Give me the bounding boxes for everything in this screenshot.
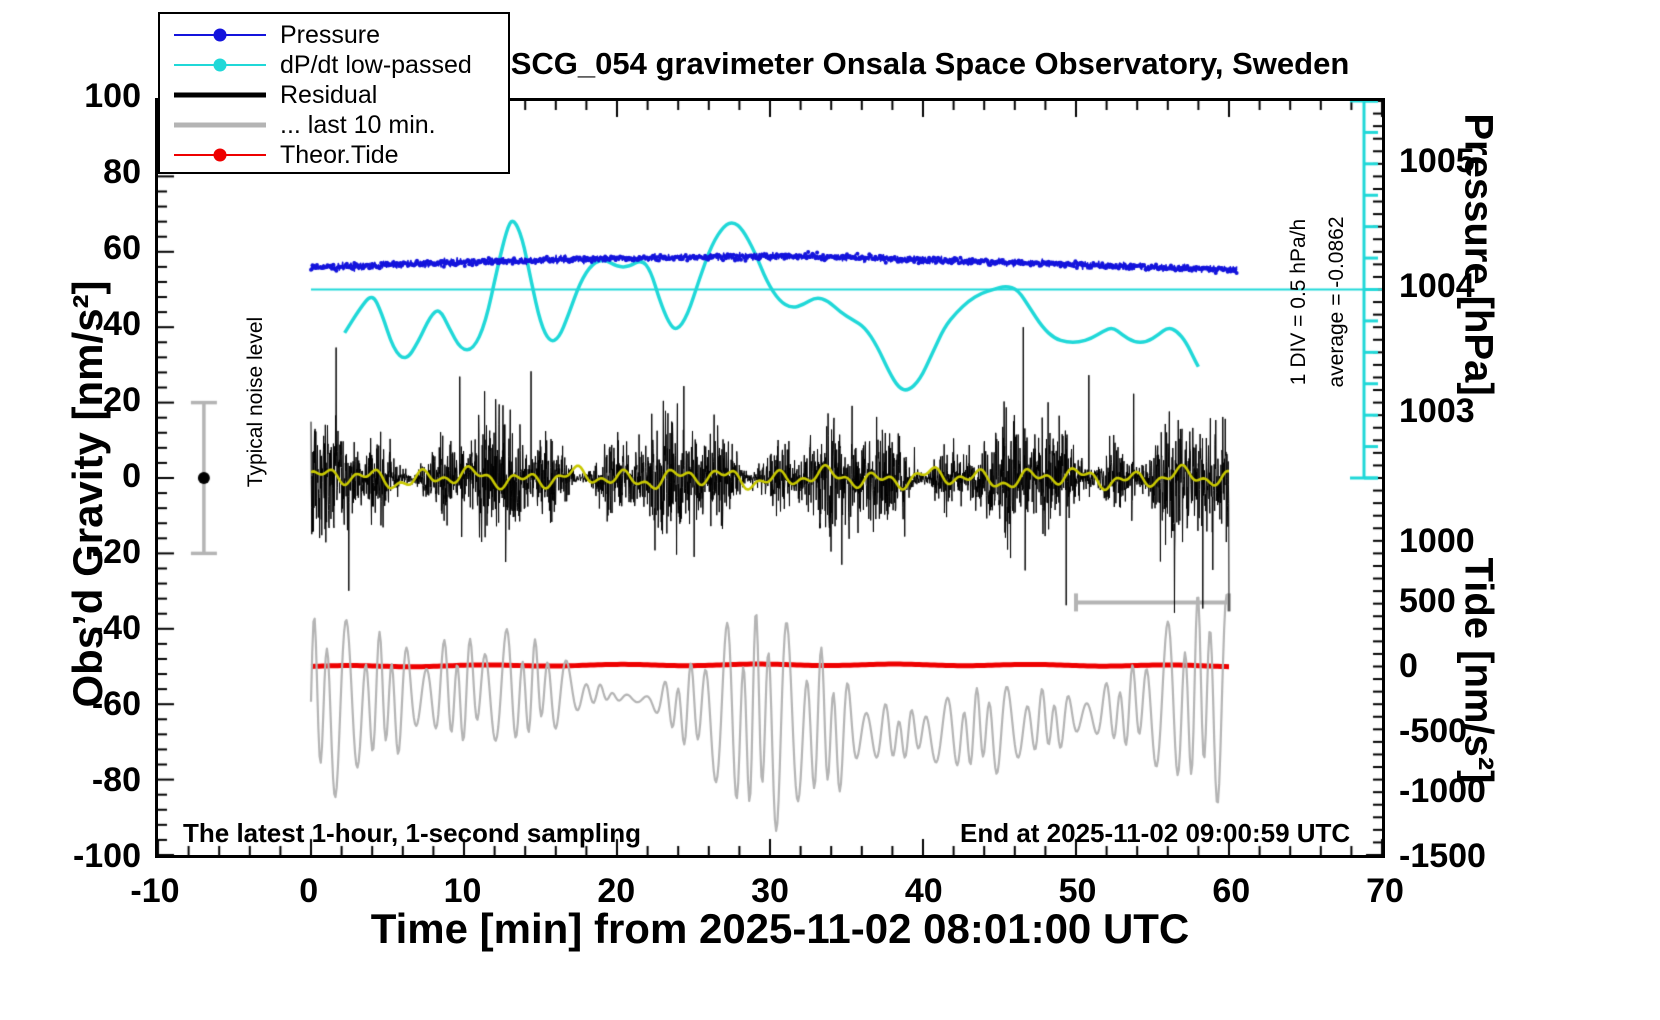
legend-item-dpdt[interactable]: dP/dt low-passed xyxy=(160,50,508,80)
y-tick-pressure-1004: 1004 xyxy=(1399,267,1549,306)
y-tick-pressure-1005: 1005 xyxy=(1399,142,1549,181)
x-tick-0: 0 xyxy=(249,872,369,911)
legend-swatch-dpdt xyxy=(174,55,266,75)
y-tick-left--20: -20 xyxy=(21,533,141,572)
plot-area xyxy=(155,98,1385,858)
x-tick-20: 20 xyxy=(556,872,676,911)
x-tick-40: 40 xyxy=(864,872,984,911)
page-title: SCG_054 gravimeter Onsala Space Observat… xyxy=(430,46,1430,82)
x-tick-50: 50 xyxy=(1018,872,1138,911)
div-scale-label: 1 DIV = 0.5 hPa/h xyxy=(1287,187,1311,417)
y-tick-tide-500: 500 xyxy=(1399,582,1549,621)
caption-latest: The latest 1-hour, 1-second sampling xyxy=(183,818,641,849)
chart-page: SCG_054 gravimeter Onsala Space Observat… xyxy=(0,0,1660,1020)
y-tick-tide--1000: -1000 xyxy=(1399,772,1549,811)
legend-label-last10: ... last 10 min. xyxy=(280,113,436,138)
legend-label-dpdt: dP/dt low-passed xyxy=(280,53,472,78)
y-tick-left-40: 40 xyxy=(21,305,141,344)
y-tick-left-20: 20 xyxy=(21,381,141,420)
y-tick-left--80: -80 xyxy=(21,761,141,800)
average-label: average = -0.0862 xyxy=(1325,187,1349,417)
plot-canvas xyxy=(158,101,1382,855)
x-tick--10: -10 xyxy=(95,872,215,911)
legend-label-pressure: Pressure xyxy=(280,23,380,48)
y-tick-left-100: 100 xyxy=(21,77,141,116)
y-tick-left--40: -40 xyxy=(21,609,141,648)
caption-end-time: End at 2025-11-02 09:00:59 UTC xyxy=(960,818,1350,849)
y-tick-pressure-1003: 1003 xyxy=(1399,392,1549,431)
legend-item-theor-tide[interactable]: Theor.Tide xyxy=(160,140,508,170)
y-tick-left-60: 60 xyxy=(21,229,141,268)
legend-item-residual[interactable]: Residual xyxy=(160,80,508,110)
legend-label-theor-tide: Theor.Tide xyxy=(280,143,399,168)
y-tick-tide-0: 0 xyxy=(1399,647,1549,686)
legend-swatch-residual xyxy=(174,85,266,105)
y-tick-left--60: -60 xyxy=(21,685,141,724)
x-axis-title: Time [min] from 2025-11-02 08:01:00 UTC xyxy=(180,905,1380,953)
x-tick-10: 10 xyxy=(403,872,523,911)
legend-item-pressure[interactable]: Pressure xyxy=(160,20,508,50)
y-tick-tide--1500: -1500 xyxy=(1399,837,1549,876)
x-tick-30: 30 xyxy=(710,872,830,911)
y-tick-left--100: -100 xyxy=(21,837,141,876)
legend-swatch-pressure xyxy=(174,25,266,45)
noise-level-label: Typical noise level xyxy=(244,292,268,512)
y-tick-left-80: 80 xyxy=(21,153,141,192)
y-tick-tide--500: -500 xyxy=(1399,712,1549,751)
legend-swatch-last10 xyxy=(174,115,266,135)
x-tick-70: 70 xyxy=(1325,872,1445,911)
y-tick-tide-1000: 1000 xyxy=(1399,522,1549,561)
legend-swatch-theor-tide xyxy=(174,145,266,165)
legend-item-last10[interactable]: ... last 10 min. xyxy=(160,110,508,140)
legend-label-residual: Residual xyxy=(280,83,377,108)
y-tick-left-0: 0 xyxy=(21,457,141,496)
legend: Pressure dP/dt low-passed Residual ... l… xyxy=(158,12,510,174)
x-tick-60: 60 xyxy=(1171,872,1291,911)
